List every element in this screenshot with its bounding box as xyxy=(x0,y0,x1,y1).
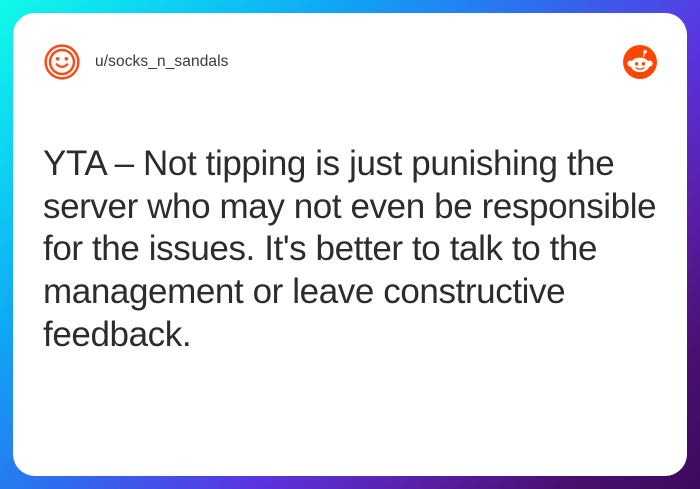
reddit-snoo-icon[interactable] xyxy=(623,45,657,79)
username-label: u/socks_n_sandals xyxy=(95,53,229,71)
quote-text: YTA – Not tipping is just punishing the … xyxy=(43,143,657,356)
quote-card: u/socks_n_sandals xyxy=(13,13,687,476)
card-header: u/socks_n_sandals xyxy=(43,39,657,85)
smiley-face-icon xyxy=(43,43,81,81)
gradient-background: u/socks_n_sandals xyxy=(0,0,700,489)
